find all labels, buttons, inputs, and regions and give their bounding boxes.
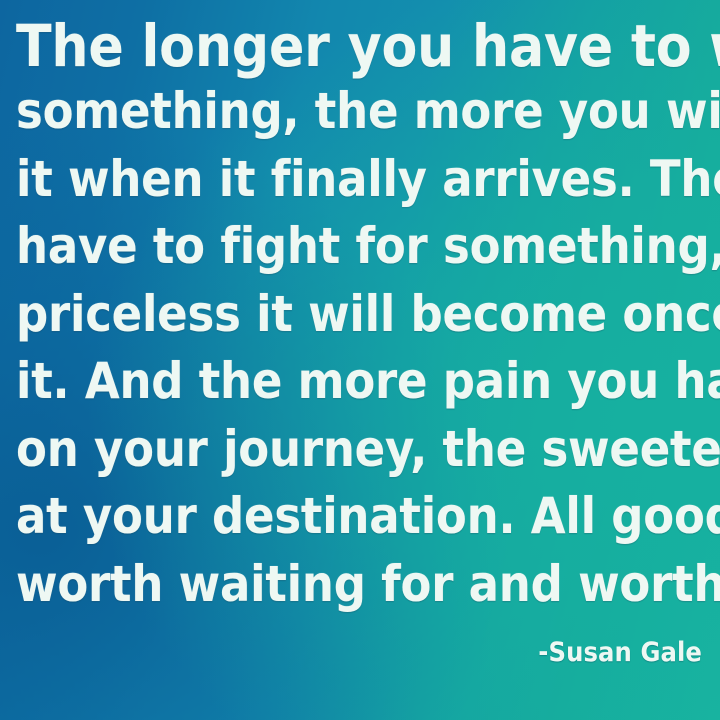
quote-line-8-text: at your destination. All good things are [16, 483, 706, 551]
quote-line-6-text: it. And the more pain you have to endure [16, 348, 706, 416]
quote-line-6: it. And the more pain you have to endure [16, 348, 706, 416]
quote-line-2-text: something, the more you will appreciate [16, 78, 706, 146]
quote-text-block: The longer you have to wait for somethin… [16, 14, 706, 618]
quote-line-2: something, the more you will appreciate [16, 78, 706, 146]
quote-poster: The longer you have to wait for somethin… [0, 0, 720, 720]
quote-line-9-text: worth waiting for and worth fighting for… [16, 551, 706, 619]
quote-attribution: -Susan Gale [538, 637, 702, 668]
quote-line-9: worth waiting for and worth fighting for… [16, 551, 706, 619]
quote-line-1-text: The longer you have to wait for [16, 14, 706, 78]
quote-line-5-text: priceless it will become once you achiev… [16, 281, 706, 349]
quote-line-3: it when it finally arrives. The harder y… [16, 146, 706, 214]
quote-line-5: priceless it will become once you achiev… [16, 281, 706, 349]
quote-line-7-text: on your journey, the sweeter the arrival [16, 416, 706, 484]
quote-line-1: The longer you have to wait for [16, 14, 706, 78]
quote-line-8: at your destination. All good things are [16, 483, 706, 551]
quote-line-4: have to fight for something, the more [16, 213, 706, 281]
quote-line-7: on your journey, the sweeter the arrival [16, 416, 706, 484]
quote-line-3-text: it when it finally arrives. The harder y… [16, 146, 706, 214]
quote-line-4-text: have to fight for something, the more [16, 213, 706, 281]
